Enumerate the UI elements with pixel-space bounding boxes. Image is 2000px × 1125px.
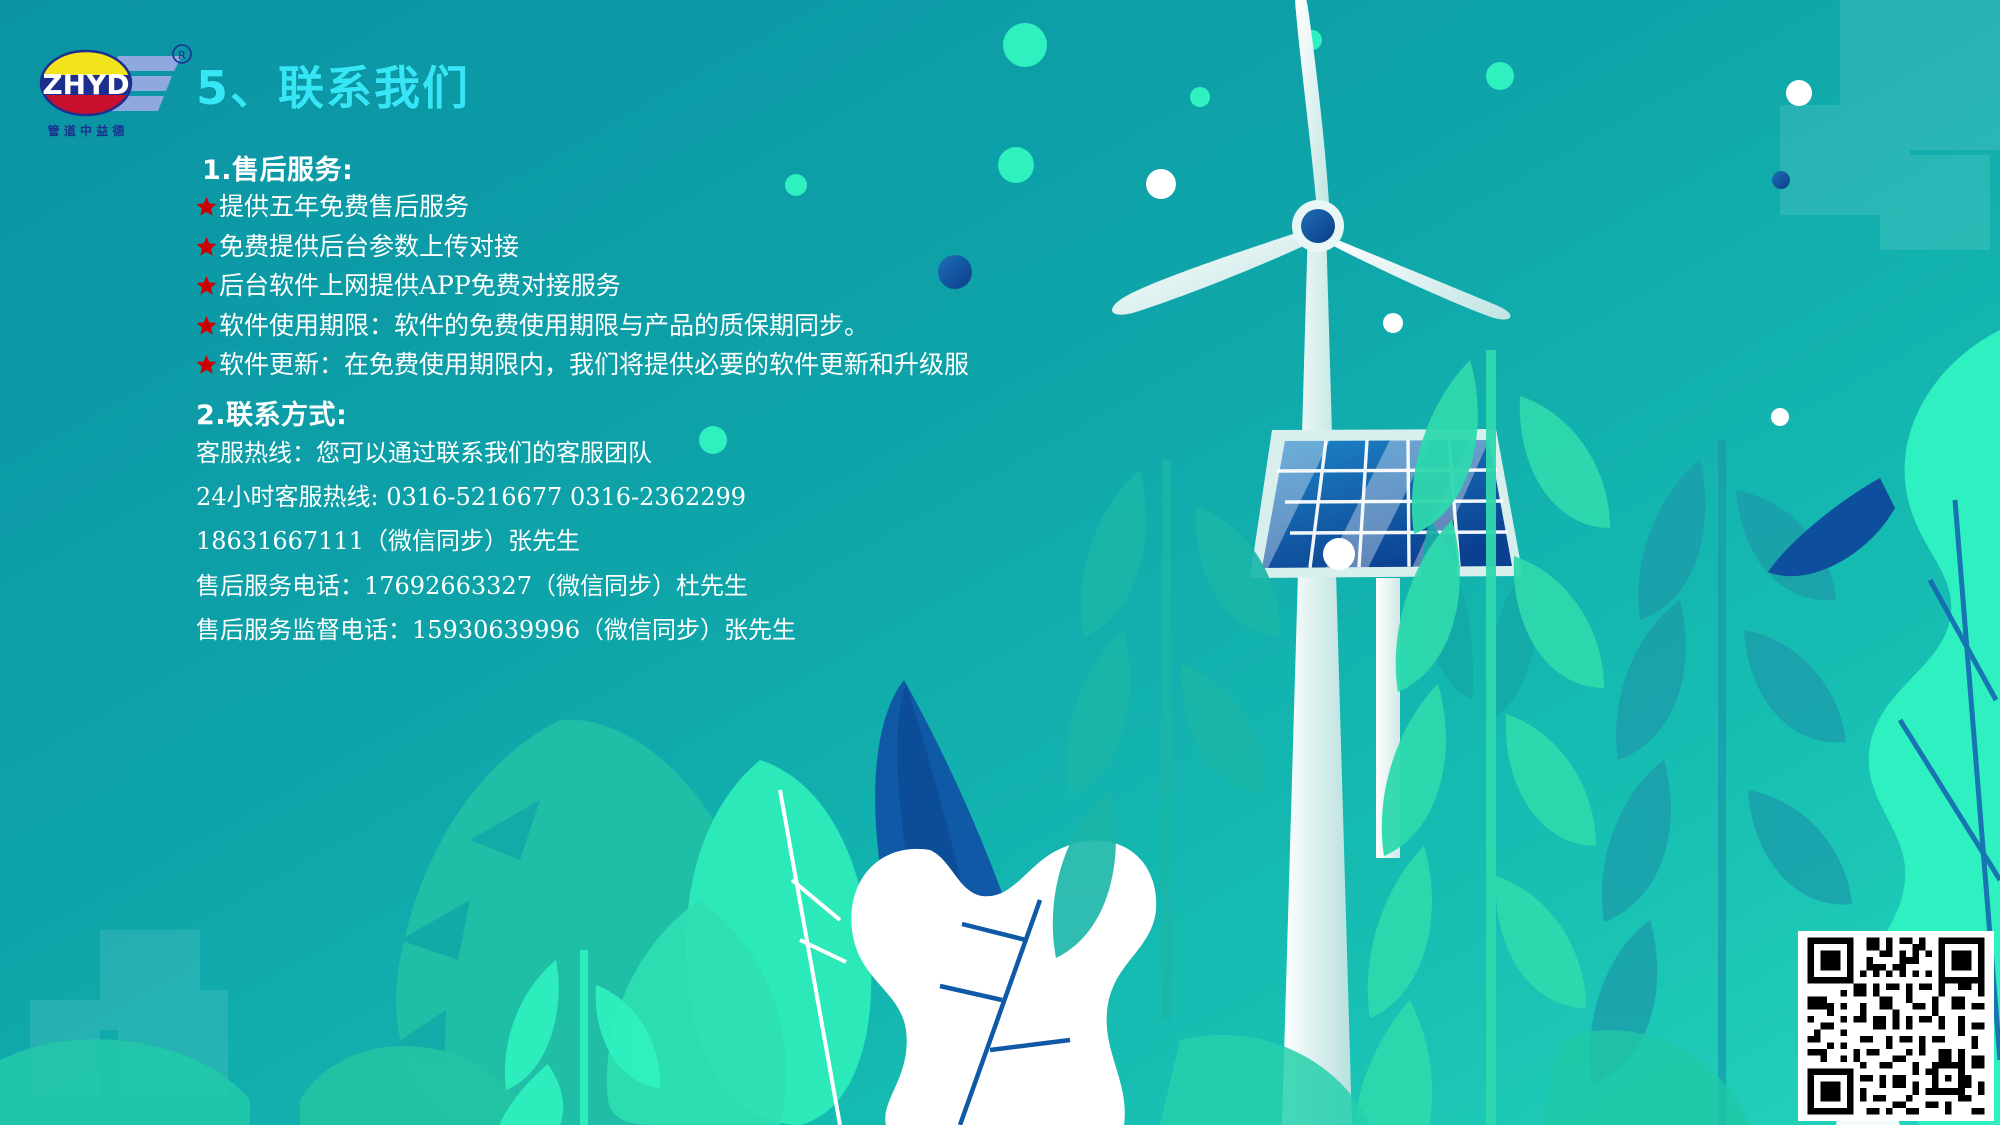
star-icon bbox=[196, 354, 217, 375]
leaf-dark-accent bbox=[1768, 478, 1895, 576]
bullet-text: 后台软件上网提供APP免费对接服务 bbox=[219, 272, 621, 300]
svg-text:ZHYD: ZHYD bbox=[42, 68, 129, 101]
contact-line-24h-hotline: 24小时客服热线: 0316-5216677 0316-2362299 bbox=[196, 484, 1196, 510]
contact-line-mobile-zhang: 18631667111（微信同步）张先生 bbox=[196, 528, 1196, 554]
foliage-sprig-left bbox=[500, 950, 660, 1125]
company-logo: ZHYD R 管 道 中 益 德 bbox=[30, 38, 195, 143]
bullet-text: 免费提供后台参数上传对接 bbox=[219, 233, 519, 261]
logo-subtext: 管 道 中 益 德 bbox=[48, 123, 125, 138]
foliage-right-mid bbox=[1421, 520, 1537, 720]
bullet-item: 后台软件上网提供APP免费对接服务 bbox=[196, 272, 1196, 300]
section-heading-contact: 2.联系方式: bbox=[196, 393, 1196, 432]
content-body: 1.售后服务: 提供五年免费售后服务 免费提供后台参数上传对接 后台软件上网提供… bbox=[196, 148, 1196, 661]
page-title: 5、联系我们 bbox=[196, 52, 470, 118]
bullet-item: 软件更新：在免费使用期限内，我们将提供必要的软件更新和升级服 bbox=[196, 351, 1196, 379]
bullet-text: 软件使用期限：软件的免费使用期限与产品的质保期同步。 bbox=[219, 312, 869, 340]
leaf-navy-large bbox=[875, 680, 1051, 1125]
star-icon bbox=[196, 275, 217, 296]
foliage-bottom-left bbox=[300, 720, 772, 1125]
star-icon bbox=[196, 315, 217, 336]
foliage-center-bamboo bbox=[1357, 350, 1610, 1125]
contact-line-service-hotline: 客服热线：您可以通过联系我们的客服团队 bbox=[196, 440, 1196, 466]
section-heading-after-sales: 1.售后服务: bbox=[202, 148, 1196, 187]
solar-panel bbox=[1250, 429, 1523, 858]
leaf-mint-center bbox=[686, 760, 871, 1125]
slide-root: ZHYD R 管 道 中 益 德 5、联系我们 1.售后服务: 提供五年免费售后… bbox=[0, 0, 2000, 1125]
leaf-white-oak bbox=[851, 840, 1156, 1125]
qr-code[interactable] bbox=[1798, 931, 1994, 1121]
contact-line-aftersales-du: 售后服务电话：17692663327（微信同步）杜先生 bbox=[196, 573, 1196, 599]
leaf-mint-left bbox=[607, 900, 786, 1125]
contact-line-supervision-zhang: 售后服务监督电话：15930639996（微信同步）张先生 bbox=[196, 617, 1196, 643]
bullet-item: 免费提供后台参数上传对接 bbox=[196, 233, 1196, 261]
decor-squares bbox=[30, 930, 228, 1095]
bullet-text: 提供五年免费售后服务 bbox=[219, 193, 469, 221]
bullet-item: 提供五年免费售后服务 bbox=[196, 193, 1196, 221]
bullet-item: 软件使用期限：软件的免费使用期限与产品的质保期同步。 bbox=[196, 312, 1196, 340]
registered-mark-icon: R bbox=[173, 45, 191, 63]
star-icon bbox=[196, 236, 217, 257]
svg-text:R: R bbox=[178, 49, 186, 62]
leaf-bottom-edge bbox=[0, 1039, 250, 1125]
bullet-text: 软件更新：在免费使用期限内，我们将提供必要的软件更新和升级服 bbox=[219, 351, 969, 379]
star-icon bbox=[196, 196, 217, 217]
